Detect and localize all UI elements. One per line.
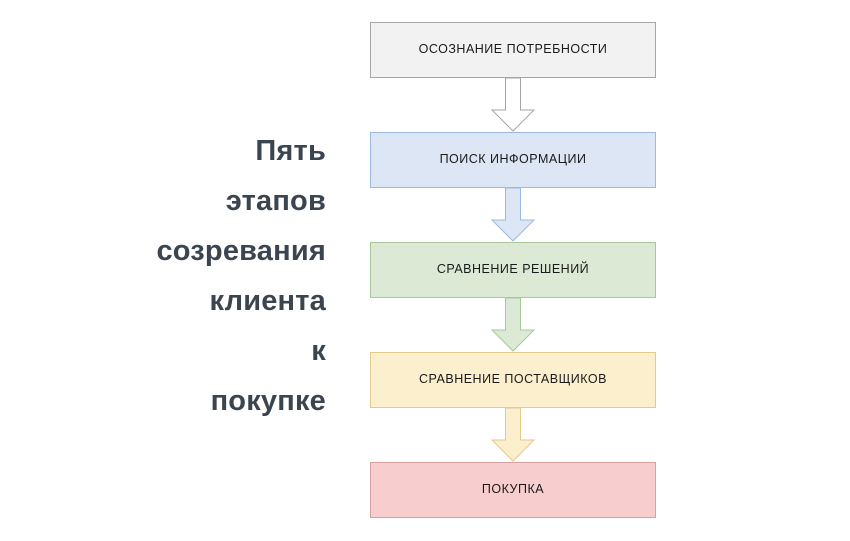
arrow-down-icon-4 — [483, 407, 543, 463]
stage-label-5: ПОКУПКА — [482, 483, 544, 497]
stage-box-4[interactable]: СРАВНЕНИЕ ПОСТАВЩИКОВ — [370, 352, 656, 408]
stage-box-5[interactable]: ПОКУПКА — [370, 462, 656, 518]
stage-box-3[interactable]: СРАВНЕНИЕ РЕШЕНИЙ — [370, 242, 656, 298]
diagram-title: Пять этапов созревания клиента к покупке — [120, 126, 326, 426]
arrow-down-icon-1 — [483, 77, 543, 133]
diagram-canvas: Пять этапов созревания клиента к покупке… — [0, 0, 850, 541]
stage-box-2[interactable]: ПОИСК ИНФОРМАЦИИ — [370, 132, 656, 188]
stage-label-1: ОСОЗНАНИЕ ПОТРЕБНОСТИ — [419, 43, 608, 57]
stage-label-4: СРАВНЕНИЕ ПОСТАВЩИКОВ — [419, 373, 607, 387]
stage-box-1[interactable]: ОСОЗНАНИЕ ПОТРЕБНОСТИ — [370, 22, 656, 78]
stage-label-2: ПОИСК ИНФОРМАЦИИ — [440, 153, 587, 167]
arrow-down-icon-2 — [483, 187, 543, 243]
arrow-down-icon-3 — [483, 297, 543, 353]
flow-chart: ОСОЗНАНИЕ ПОТРЕБНОСТИ ПОИСК ИНФОРМАЦИИ С… — [370, 22, 656, 519]
stage-label-3: СРАВНЕНИЕ РЕШЕНИЙ — [437, 263, 589, 277]
